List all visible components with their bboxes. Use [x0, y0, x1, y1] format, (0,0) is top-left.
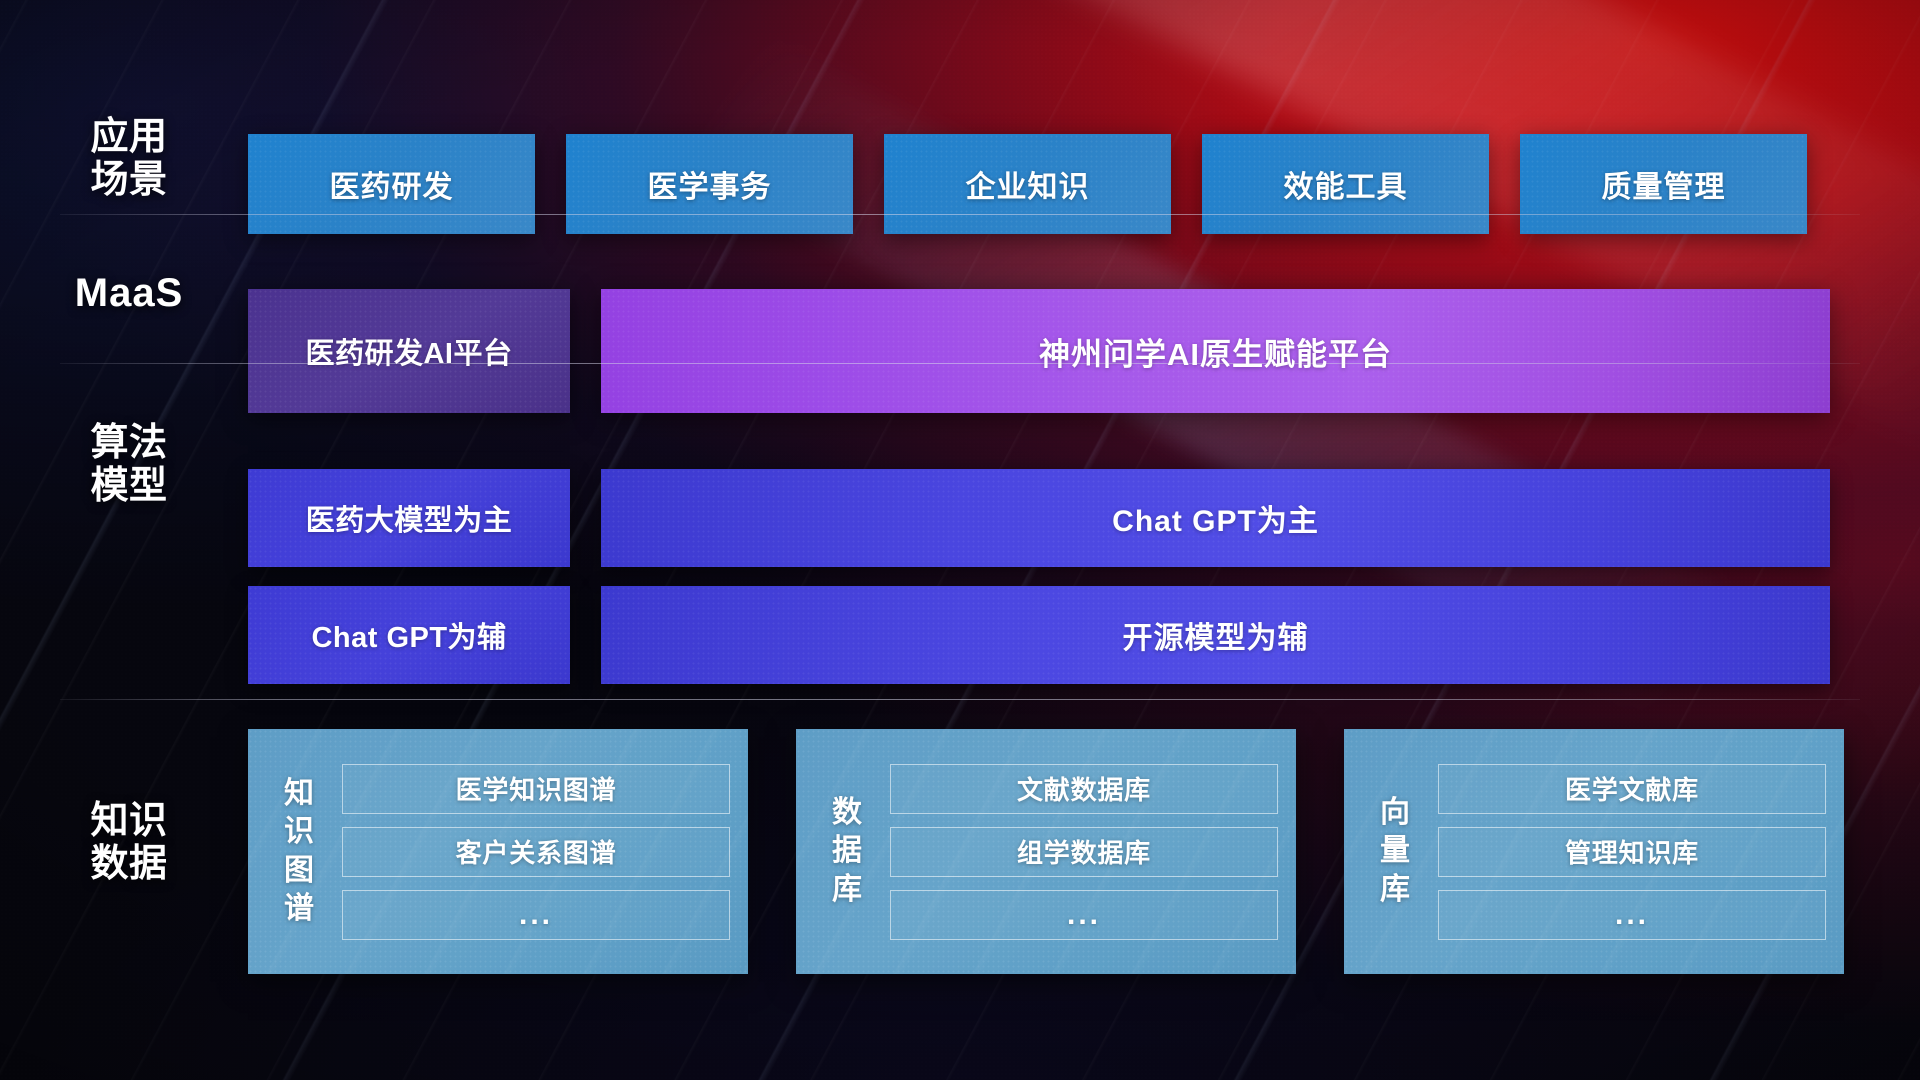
row-label-line: 应用: [64, 116, 194, 159]
app-box-enterprise-knowledge[interactable]: 企业知识: [884, 134, 1171, 234]
knowledge-item[interactable]: 医学知识图谱: [342, 764, 730, 814]
row-label-line: MaaS: [64, 271, 194, 317]
knowledge-card-title-char: 识: [256, 813, 342, 851]
algo-box-label: 医药大模型为主: [306, 497, 513, 539]
knowledge-item[interactable]: 管理知识库: [1438, 827, 1826, 877]
maas-platform-label: 医药研发AI平台: [305, 330, 512, 372]
knowledge-card-title-char: 谱: [256, 890, 342, 928]
row-label-line: 知识: [64, 800, 194, 843]
row-label-line: 模型: [64, 465, 194, 508]
diagram-content: 应用 场景 医药研发 医学事务 企业知识 效能工具 质量管理 MaaS: [0, 0, 1920, 1080]
algorithm-model-row-primary: 医药大模型为主 Chat GPT为主: [248, 469, 1830, 567]
knowledge-item-more[interactable]: ...: [890, 890, 1278, 940]
knowledge-card-title: 知 识 图 谱: [256, 775, 342, 929]
knowledge-card-title: 数 据 库: [804, 794, 890, 909]
app-box-label: 企业知识: [966, 162, 1090, 206]
knowledge-card-title-char: 据: [804, 832, 890, 870]
divider-algorithm-knowledge: [60, 699, 1860, 700]
knowledge-card-title-char: 库: [1352, 871, 1438, 909]
app-box-label: 医药研发: [330, 162, 454, 206]
knowledge-card-title-char: 知: [256, 775, 342, 813]
row-label-line: 场景: [64, 159, 194, 202]
app-box-label: 质量管理: [1602, 162, 1726, 206]
knowledge-card-items: 医学文献库 管理知识库 ...: [1438, 764, 1826, 940]
knowledge-item-more[interactable]: ...: [1438, 890, 1826, 940]
knowledge-cards: 知 识 图 谱 医学知识图谱 客户关系图谱 ... 数 据 库: [248, 729, 1844, 974]
knowledge-item-more[interactable]: ...: [342, 890, 730, 940]
row-label-application-scenario: 应用 场景: [64, 116, 194, 203]
app-box-quality-management[interactable]: 质量管理: [1520, 134, 1807, 234]
knowledge-item[interactable]: 组学数据库: [890, 827, 1278, 877]
knowledge-card-title: 向 量 库: [1352, 794, 1438, 909]
knowledge-item[interactable]: 文献数据库: [890, 764, 1278, 814]
row-label-maas: MaaS: [64, 271, 194, 317]
app-box-medicine-rd[interactable]: 医药研发: [248, 134, 535, 234]
app-box-label: 医学事务: [648, 162, 772, 206]
knowledge-card-items: 文献数据库 组学数据库 ...: [890, 764, 1278, 940]
application-scenario-boxes: 医药研发 医学事务 企业知识 效能工具 质量管理: [248, 134, 1920, 234]
knowledge-card-knowledge-graph[interactable]: 知 识 图 谱 医学知识图谱 客户关系图谱 ...: [248, 729, 748, 974]
knowledge-card-database[interactable]: 数 据 库 文献数据库 组学数据库 ...: [796, 729, 1296, 974]
row-label-line: 算法: [64, 422, 194, 465]
divider-application-maas: [60, 214, 1860, 215]
knowledge-card-title-char: 向: [1352, 794, 1438, 832]
algo-box-opensource-secondary[interactable]: 开源模型为辅: [601, 586, 1830, 684]
slide-canvas: 应用 场景 医药研发 医学事务 企业知识 效能工具 质量管理 MaaS: [0, 0, 1920, 1080]
maas-platform-label: 神州问学AI原生赋能平台: [1039, 329, 1392, 374]
row-label-algorithm-model: 算法 模型: [64, 422, 194, 509]
knowledge-card-title-char: 量: [1352, 832, 1438, 870]
knowledge-card-title-char: 数: [804, 794, 890, 832]
algo-box-chatgpt-primary[interactable]: Chat GPT为主: [601, 469, 1830, 567]
algo-box-label: 开源模型为辅: [1123, 613, 1309, 657]
knowledge-card-title-char: 库: [804, 871, 890, 909]
app-box-label: 效能工具: [1284, 162, 1408, 206]
maas-platform-medicine-ai[interactable]: 医药研发AI平台: [248, 289, 570, 413]
algo-box-label: Chat GPT为辅: [311, 614, 506, 656]
algo-box-chatgpt-secondary[interactable]: Chat GPT为辅: [248, 586, 570, 684]
row-label-knowledge-data: 知识 数据: [64, 800, 194, 887]
knowledge-item[interactable]: 客户关系图谱: [342, 827, 730, 877]
maas-platform-row: 医药研发AI平台 神州问学AI原生赋能平台: [248, 289, 1830, 413]
row-label-line: 数据: [64, 843, 194, 886]
app-box-medical-affairs[interactable]: 医学事务: [566, 134, 853, 234]
algorithm-model-row-secondary: Chat GPT为辅 开源模型为辅: [248, 586, 1830, 684]
knowledge-card-vector-store[interactable]: 向 量 库 医学文献库 管理知识库 ...: [1344, 729, 1844, 974]
maas-platform-shenzhou-wenxue[interactable]: 神州问学AI原生赋能平台: [601, 289, 1830, 413]
algo-box-label: Chat GPT为主: [1112, 496, 1319, 540]
algo-box-medicine-llm-primary[interactable]: 医药大模型为主: [248, 469, 570, 567]
knowledge-card-title-char: 图: [256, 852, 342, 890]
app-box-efficiency-tools[interactable]: 效能工具: [1202, 134, 1489, 234]
knowledge-item[interactable]: 医学文献库: [1438, 764, 1826, 814]
knowledge-card-items: 医学知识图谱 客户关系图谱 ...: [342, 764, 730, 940]
